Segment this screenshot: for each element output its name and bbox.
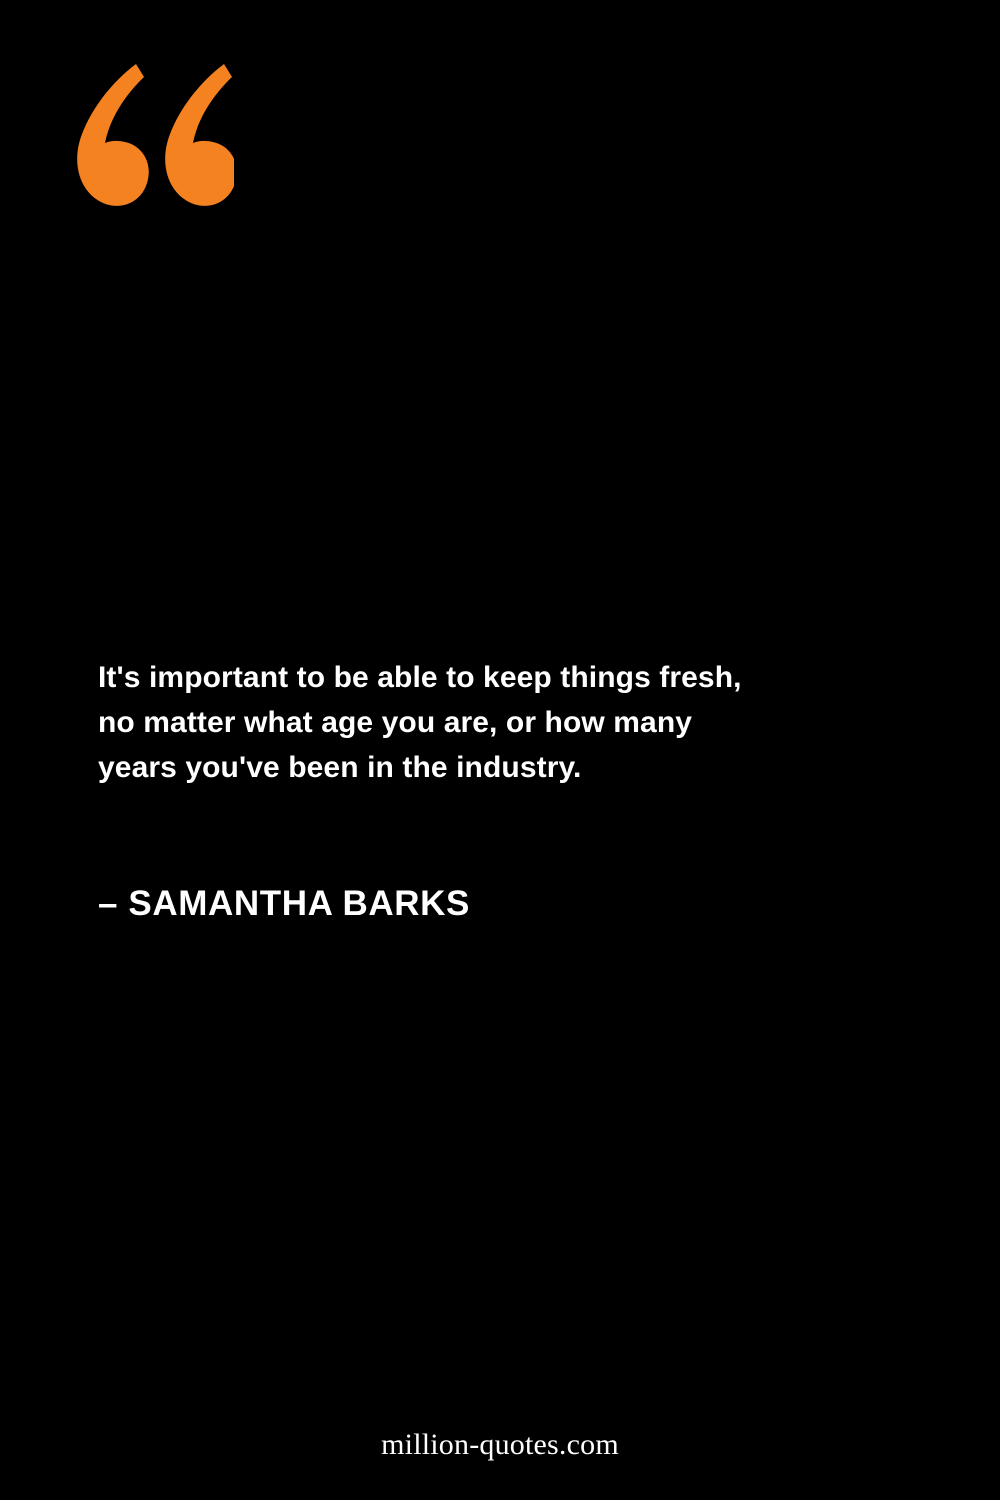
left-double-quotation-mark-icon (72, 60, 292, 300)
quote-attribution: – SAMANTHA BARKS (98, 884, 470, 924)
quote-block: It's important to be able to keep things… (98, 655, 798, 790)
site-url-text: million-quotes.com (381, 1428, 619, 1461)
quote-card: It's important to be able to keep things… (0, 0, 1000, 1500)
quote-text: It's important to be able to keep things… (98, 655, 770, 790)
footer: million-quotes.com (0, 1428, 1000, 1462)
